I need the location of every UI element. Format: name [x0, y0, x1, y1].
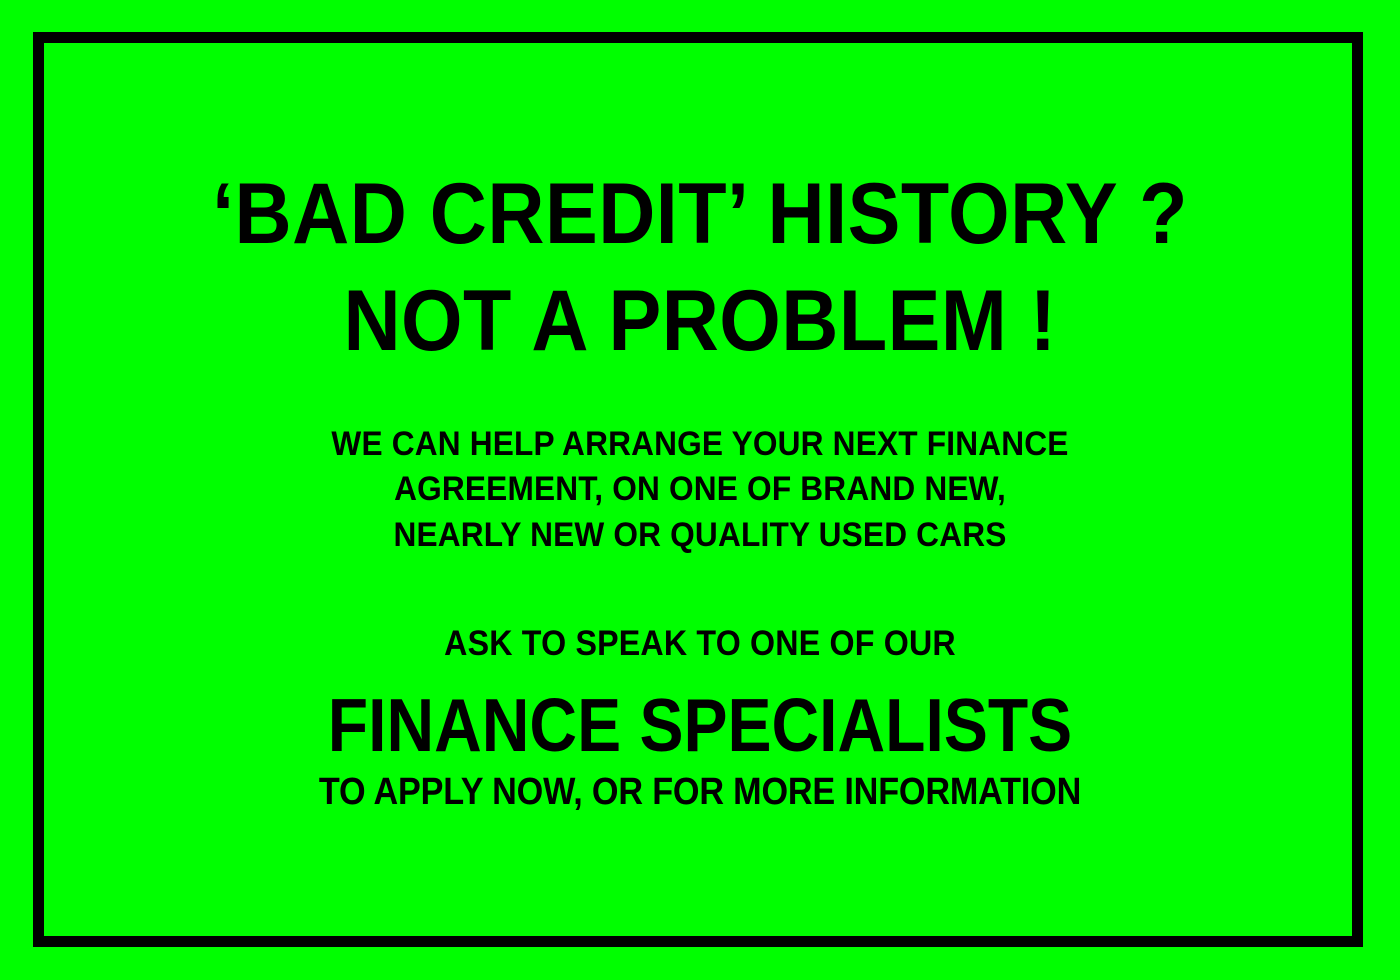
- body-text-line-2: AGREEMENT, ON ONE OF BRAND NEW,: [49, 472, 1351, 506]
- poster-content: ‘BAD CREDIT’ HISTORY ? NOT A PROBLEM ! W…: [0, 0, 1400, 980]
- call-to-action-footer: TO APPLY NOW, OR FOR MORE INFORMATION: [70, 773, 1330, 811]
- finance-advertisement-poster: ‘BAD CREDIT’ HISTORY ? NOT A PROBLEM ! W…: [0, 0, 1400, 980]
- call-to-action-emphasis: FINANCE SPECIALISTS: [84, 688, 1316, 763]
- call-to-action-lead-in: ASK TO SPEAK TO ONE OF OUR: [56, 626, 1344, 661]
- body-text-line-1: WE CAN HELP ARRANGE YOUR NEXT FINANCE: [49, 427, 1351, 461]
- headline-line-1: ‘BAD CREDIT’ HISTORY ?: [56, 171, 1344, 257]
- body-text-line-3: NEARLY NEW OR QUALITY USED CARS: [49, 518, 1351, 552]
- headline-line-2: NOT A PROBLEM !: [56, 278, 1344, 364]
